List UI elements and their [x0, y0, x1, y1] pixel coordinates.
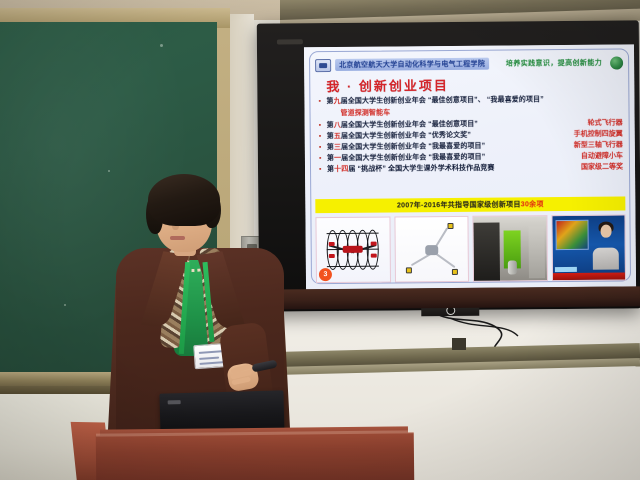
- drone-cage-icon: [327, 230, 379, 270]
- news-lower-bar: [554, 267, 576, 272]
- tri-rotor-aircraft-photo: [394, 216, 469, 283]
- bullet-note: 自动避障小车: [573, 151, 623, 160]
- news-inset-graphic: [555, 220, 588, 250]
- bullet-text-pre: 第: [327, 143, 334, 152]
- news-anchor-body: [593, 248, 619, 270]
- bullet-note: 新型三轴飞行器: [566, 140, 623, 149]
- lab-equipment-photo: [472, 215, 547, 282]
- bullet-highlight: 十四: [334, 165, 348, 174]
- classroom-presentation-scene: Skyworth 北京航空航天大学自动化科学与电气工程学院 培养实践意识，提高创…: [0, 0, 640, 480]
- news-anchor-head: [601, 225, 612, 238]
- chalk-speck: [64, 304, 66, 306]
- bullet-text-post: 届全国大学生创新创业年会 “我最喜爱的项目”: [341, 142, 485, 152]
- university-logo-icon: [315, 59, 331, 72]
- slide-yellow-banner: 2007年-2016年共指导国家级创新项目30余项: [315, 196, 625, 213]
- bullet-subnote: 管道探测智能车: [340, 105, 622, 117]
- bullet-text-post: 届全国大学生创新创业年会 “最佳创意项目”、 “我最喜爱的项目”: [341, 95, 544, 106]
- tri-motor: [405, 267, 411, 273]
- laptop-logo-icon: [168, 400, 181, 404]
- bullet-text-post: 届全国大学生创新创业年会 “优秀论文奖”: [341, 131, 471, 141]
- bullet-highlight: 八: [334, 121, 341, 130]
- bullet-highlight: 一: [334, 154, 341, 163]
- wall-mounted-display[interactable]: Skyworth 北京航空航天大学自动化科学与电气工程学院 培养实践意识，提高创…: [257, 20, 640, 311]
- wooden-podium: [96, 432, 415, 480]
- caged-quadcopter-photo: 3: [315, 217, 390, 284]
- display-lower-bezel: [258, 286, 640, 309]
- bullet-text-pre: 第: [327, 154, 334, 163]
- presenter-hair: [148, 174, 220, 226]
- bullet-note: 国家级二等奖: [573, 162, 623, 171]
- tv-news-broadcast-photo: [551, 214, 626, 281]
- news-ticker-bar: [552, 272, 625, 280]
- tri-motor: [451, 269, 457, 275]
- bullet-dot-icon: ▪: [319, 154, 327, 163]
- lab-right-panel: [528, 226, 544, 278]
- bullet-row: ▪ 第 三 届全国大学生创新创业年会 “我最喜爱的项目” 新型三轴飞行器: [319, 140, 623, 152]
- lab-cylinder: [508, 260, 517, 274]
- bullet-dot-icon: ▪: [319, 132, 327, 141]
- tri-motor: [447, 223, 453, 229]
- bullet-highlight: 五: [334, 132, 341, 141]
- bullet-text-post: 届 “挑战杯” 全国大学生课外学术科技作品竞赛: [348, 164, 494, 174]
- bullet-text-post: 届全国大学生创新创业年会 “我最喜爱的项目”: [341, 153, 485, 163]
- bullet-text-pre: 第: [327, 132, 334, 141]
- bullet-text-post: 届全国大学生创新创业年会 “最佳创意项目”: [341, 120, 478, 130]
- banner-emphasis: 30余项: [521, 201, 544, 208]
- tri-rotor-hub: [425, 245, 438, 255]
- bullet-dot-icon: ▪: [319, 165, 327, 174]
- bullet-highlight: 九: [334, 97, 341, 106]
- chalk-speck: [108, 170, 110, 172]
- bullet-dot-icon: ▪: [319, 143, 327, 152]
- bullet-row: ▪ 第 八 届全国大学生创新创业年会 “最佳创意项目” 轮式飞行器: [319, 118, 623, 130]
- lab-dark-panel: [473, 223, 500, 282]
- slide-title: 我 · 创新创业项目: [326, 75, 449, 95]
- lower-rail-fitting: [452, 338, 466, 350]
- school-emblem-icon: [610, 56, 623, 69]
- photo-index-badge: 3: [319, 268, 332, 281]
- bullet-row: ▪ 第 一 届全国大学生创新创业年会 “我最喜爱的项目” 自动避障小车: [319, 151, 623, 163]
- bullet-note: 手机控制四旋翼: [566, 129, 623, 138]
- bullet-highlight: 三: [334, 143, 341, 152]
- slide-header: 北京航空航天大学自动化科学与电气工程学院 培养实践意识，提高创新能力: [315, 53, 623, 74]
- powerpoint-slide: 北京航空航天大学自动化科学与电气工程学院 培养实践意识，提高创新能力 我 · 创…: [304, 44, 636, 289]
- bullet-row: ▪ 第 五 届全国大学生创新创业年会 “优秀论文奖” 手机控制四旋翼: [319, 129, 623, 141]
- bullet-row: ▪ 第 十四 届 “挑战杯” 全国大学生课外学术科技作品竞赛 国家级二等奖: [319, 162, 623, 174]
- bullet-dot-icon: ▪: [318, 97, 326, 106]
- bullet-row: ▪ 第 九 届全国大学生创新创业年会 “最佳创意项目”、 “我最喜爱的项目”: [318, 94, 622, 106]
- slide-slogan: 培养实践意识，提高创新能力: [506, 58, 602, 69]
- presenter-mouth: [170, 236, 185, 240]
- banner-text: 2007年-2016年共指导国家级创新项目: [397, 201, 521, 209]
- bullet-dot-icon: ▪: [319, 121, 327, 130]
- bullet-text-pre: 第: [327, 165, 334, 174]
- slide-photo-strip: 3: [315, 214, 626, 283]
- ir-receiver-icon: [277, 39, 303, 44]
- bullet-note: 轮式飞行器: [580, 118, 623, 127]
- display-screen[interactable]: 北京航空航天大学自动化科学与电气工程学院 培养实践意识，提高创新能力 我 · 创…: [304, 44, 636, 289]
- slide-org-title: 北京航空航天大学自动化科学与电气工程学院: [335, 58, 489, 71]
- chalk-speck: [160, 44, 163, 47]
- slide-bullet-list: ▪ 第 九 届全国大学生创新创业年会 “最佳创意项目”、 “我最喜爱的项目” 管…: [318, 94, 623, 176]
